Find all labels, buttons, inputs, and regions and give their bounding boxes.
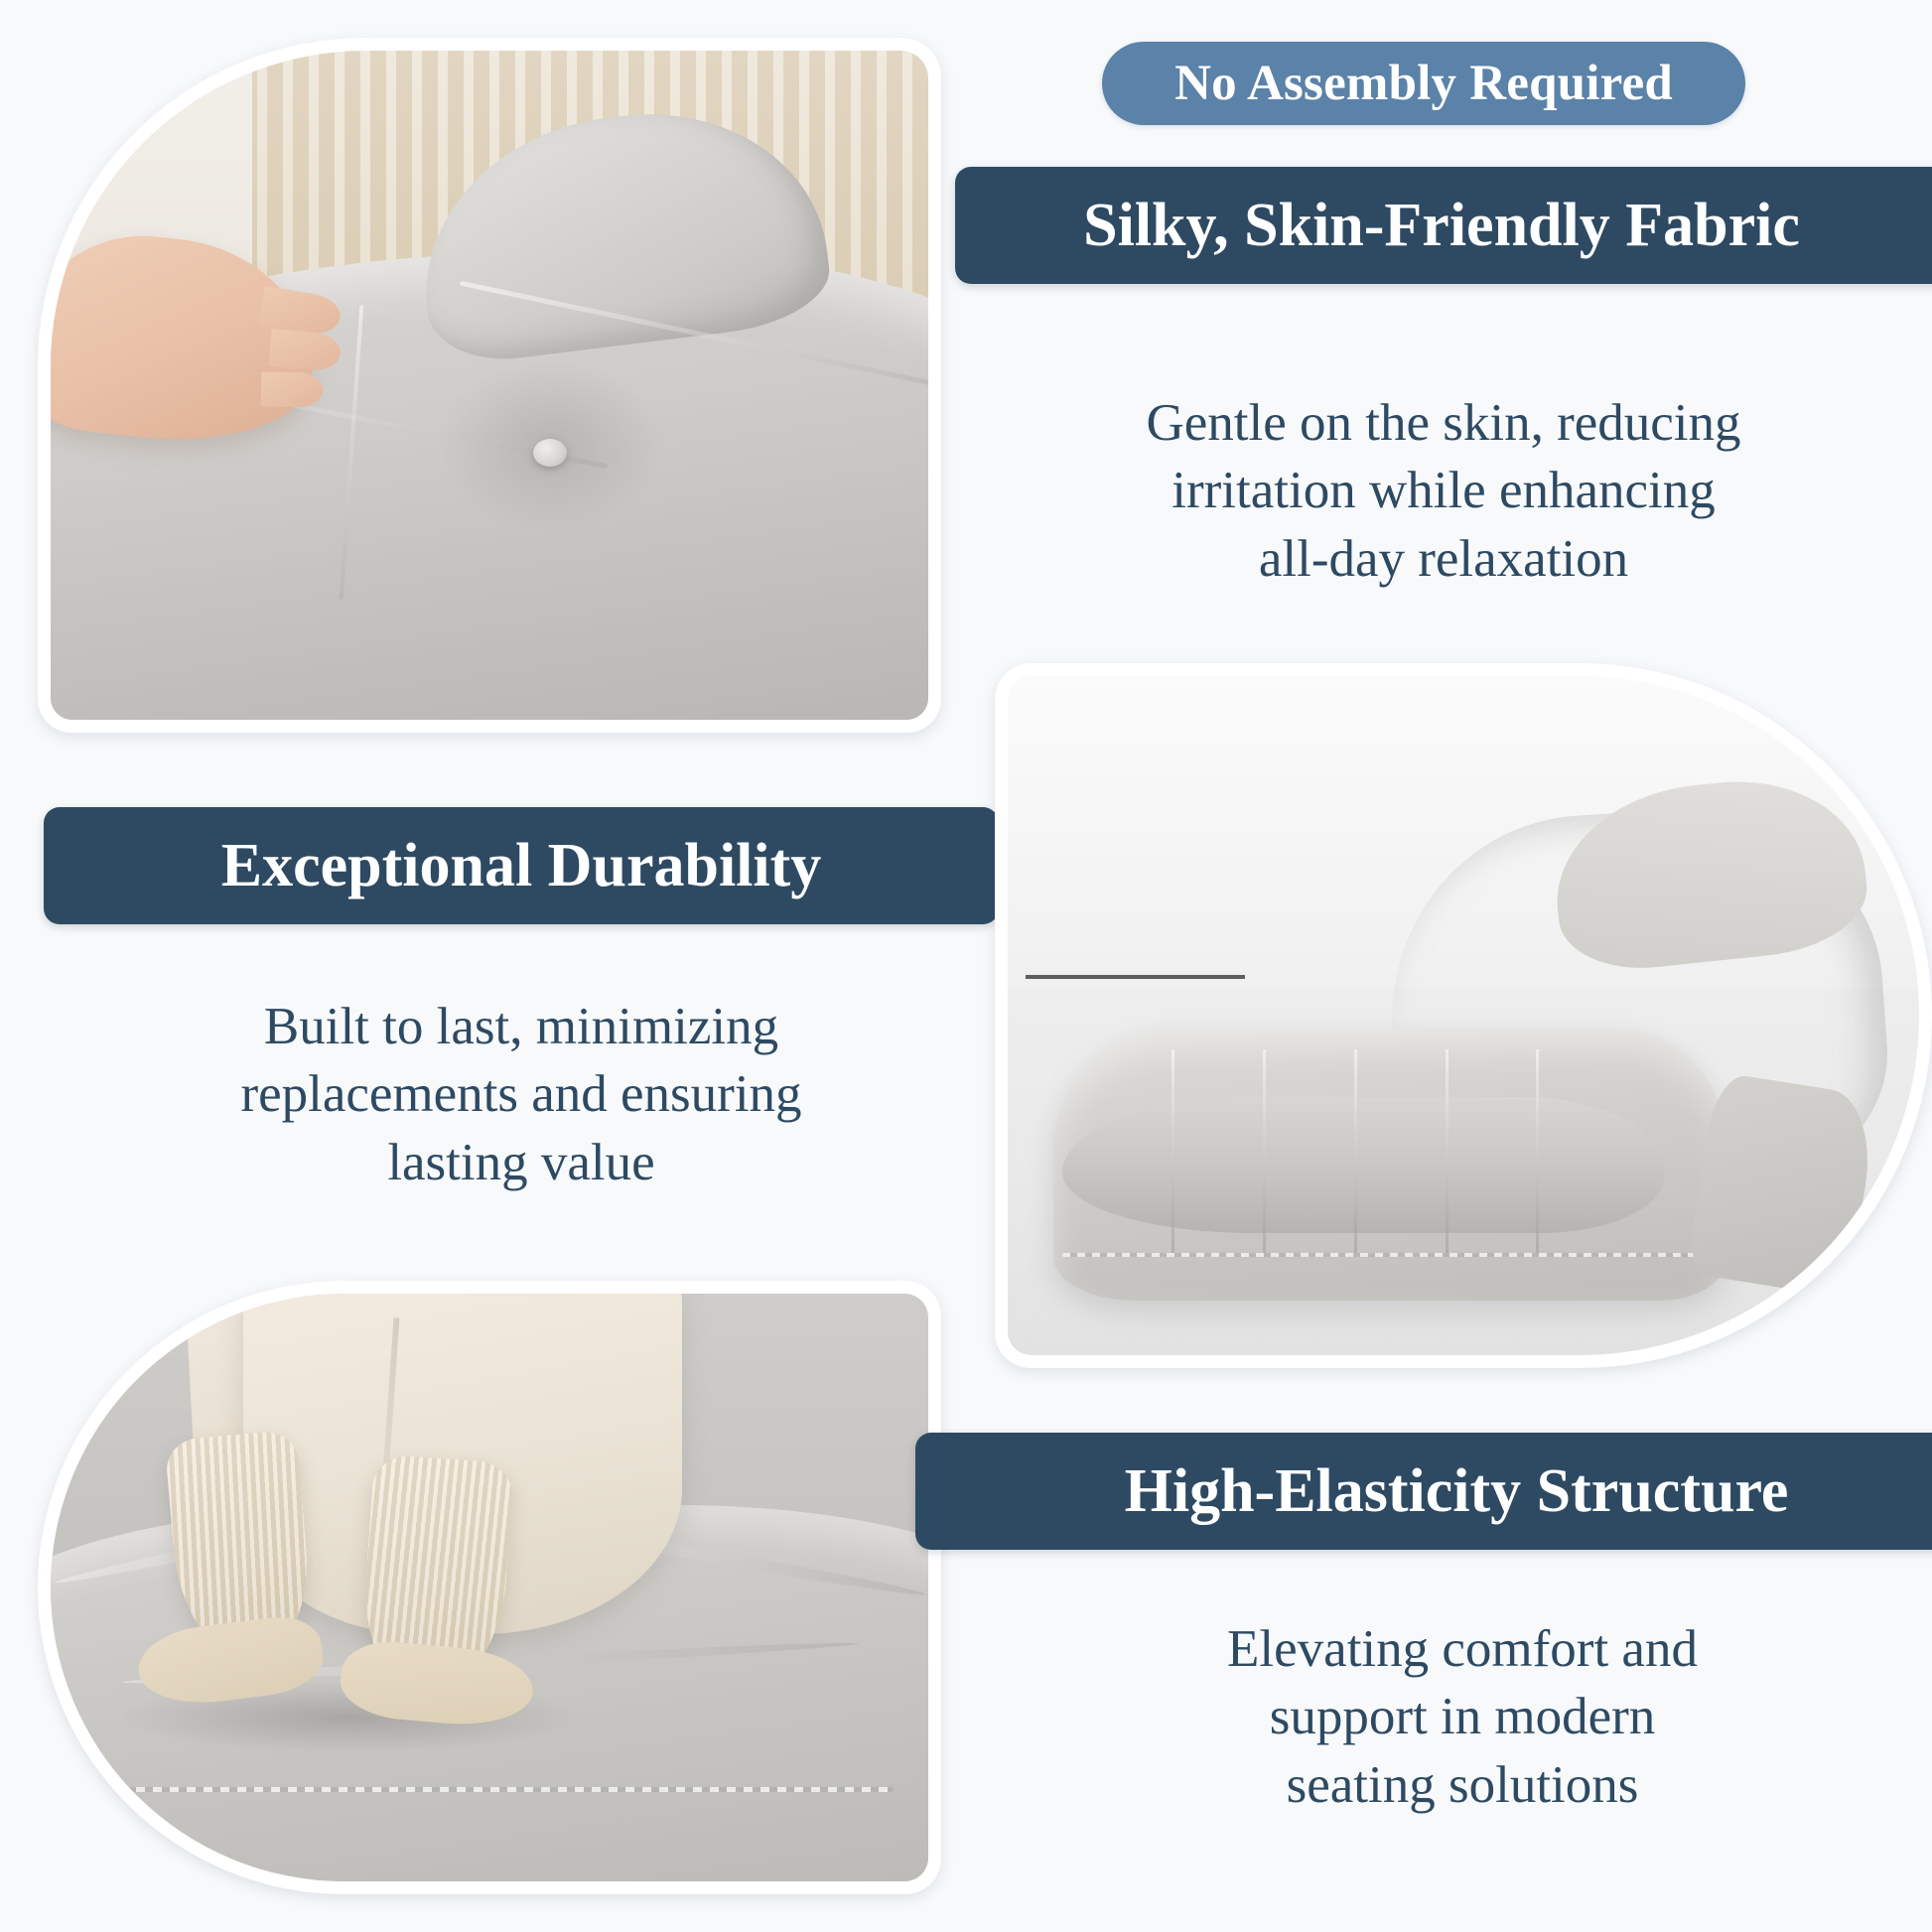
badge-label: No Assembly Required [1174,59,1673,109]
body-copy-high-elasticity: Elevating comfort and support in modern … [993,1615,1932,1819]
photo-2-artwork [1008,676,1919,1355]
body-line: support in modern [993,1683,1932,1750]
p2-tuft-line [1354,1049,1357,1253]
body-line: Built to last, minimizing [44,993,999,1060]
body-line: irritation while enhancing [955,457,1932,524]
p2-tuft-line [1263,1049,1266,1253]
body-line: lasting value [44,1129,999,1196]
p1-tufting-button [533,439,567,467]
no-assembly-badge: No Assembly Required [1102,42,1745,125]
feature-image-silky-fabric [38,38,941,733]
p2-stitch-seam [1062,1253,1701,1257]
p2-tuft-line [1536,1049,1539,1253]
body-line: Elevating comfort and [993,1615,1932,1683]
body-copy-silky-fabric: Gentle on the skin, reducing irritation … [955,389,1932,593]
body-line: all-day relaxation [955,525,1932,593]
body-line: Gentle on the skin, reducing [955,389,1932,457]
headline-label-exceptional-durability: Exceptional Durability [221,835,822,897]
body-line: replacements and ensuring [44,1060,999,1128]
body-line: seating solutions [993,1751,1932,1819]
p1-finger [261,371,323,407]
headline-bar-silky-fabric: Silky, Skin-Friendly Fabric [955,167,1932,284]
headline-bar-exceptional-durability: Exceptional Durability [44,807,999,924]
feature-image-high-elasticity [38,1281,941,1894]
p2-tuft-line [1446,1049,1449,1253]
photo-3-artwork [51,1294,928,1881]
p2-baseboard [1026,975,1244,979]
infographic-canvas: No Assembly Required Silky, Skin-Friendl… [0,0,1932,1932]
p2-bolster [1062,1097,1664,1233]
feature-image-exceptional-durability [995,663,1932,1368]
body-copy-exceptional-durability: Built to last, minimizing replacements a… [44,993,999,1196]
p2-tuft-line [1172,1049,1174,1253]
p3-stitch-seam [85,1787,893,1792]
headline-label-silky-fabric: Silky, Skin-Friendly Fabric [1083,195,1800,256]
photo-1-artwork [51,51,928,720]
headline-label-high-elasticity: High-Elasticity Structure [1125,1460,1789,1522]
headline-bar-high-elasticity: High-Elasticity Structure [915,1433,1932,1550]
